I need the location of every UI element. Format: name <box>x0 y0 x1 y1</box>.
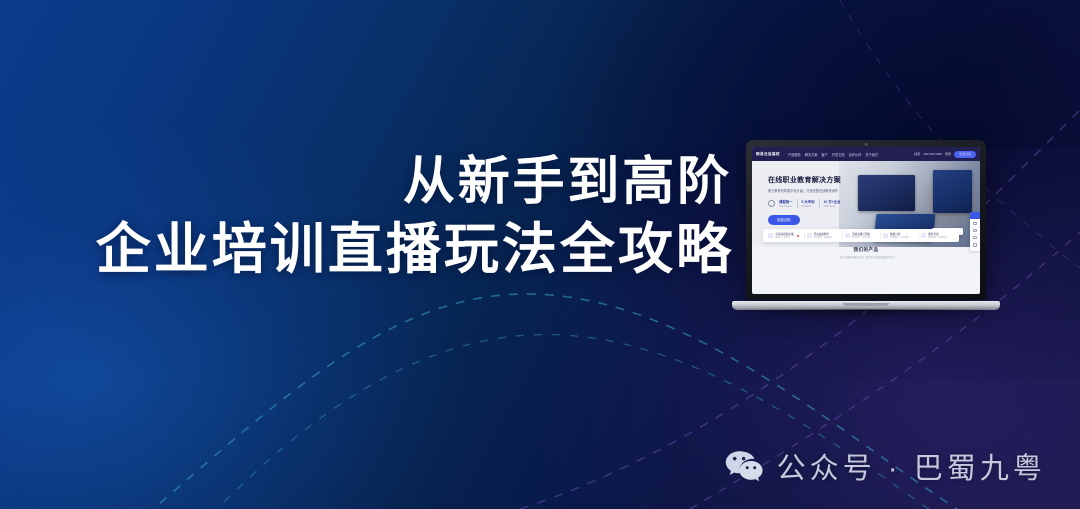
headline-line-2: 企业培训直播玩法全攻略 <box>0 217 740 282</box>
feature-card-1-title: 互动白板教学 <box>814 232 832 236</box>
nav-link-5[interactable]: 关于我们 <box>865 152 878 157</box>
hero-stat-0: 课程唯一 One Course <box>779 199 798 208</box>
hero-stats: 课程唯一 One Course 5 大专利 5 Patents 10 万+企业 … <box>768 199 882 208</box>
nav-link-1[interactable]: 解决方案 <box>805 152 818 157</box>
hero-stat-1: 5 大专利 5 Patents <box>802 199 820 208</box>
headline-block: 从新手到高阶 企业培训直播玩法全攻略 <box>0 152 740 282</box>
phone-icon <box>973 236 977 240</box>
feature-card-2-icon <box>845 233 850 238</box>
feature-card-3[interactable]: 数据分析 学情看板 · 行为追踪 <box>881 232 919 240</box>
hero-stat-2-caption: 100k Users <box>824 205 841 208</box>
feature-card-0-badge-icon <box>797 235 799 237</box>
arrow-up-icon <box>973 243 977 247</box>
feature-card-0-title: 高清音视频直播 <box>775 232 793 236</box>
site-logo: 网易云信高校 <box>756 152 780 157</box>
widget-item-phone[interactable] <box>970 235 980 242</box>
hero-stat-1-value: 5 大专利 <box>802 199 815 204</box>
feature-card-4-caption: 智能组卷 · 自动阅卷 <box>928 236 946 239</box>
feature-card-1[interactable]: 互动白板教学 实时批注 · 多端同步 <box>805 232 843 240</box>
feature-card-4-title: 题库考试 <box>928 232 946 236</box>
nav-search-label[interactable]: 搜索 <box>914 152 920 156</box>
hero-subtitle: 助力教育机构数字化升级，打造完整在线教育闭环 <box>768 188 882 193</box>
widget-item-top[interactable] <box>970 242 980 249</box>
feature-card-3-caption: 学情看板 · 行为追踪 <box>890 236 908 239</box>
feature-card-2[interactable]: 云端录播与回放 自动转码 · 永久存储 <box>843 232 881 240</box>
products-subheading: 一站式在线教育解决方案，助力企业快速搭建培训平台 <box>752 255 980 259</box>
feature-card-1-icon <box>807 233 812 238</box>
stats-ring-icon <box>768 200 775 207</box>
laptop-screen: 网易云信高校 产品服务 解决方案 客户 开发文档 合作伙伴 关于我们 搜索 40… <box>752 147 980 294</box>
webcam-icon <box>865 143 868 146</box>
floating-contact-widget[interactable] <box>970 212 980 251</box>
hero-stat-1-caption: 5 Patents <box>802 205 815 208</box>
nav-link-0[interactable]: 产品服务 <box>788 152 801 157</box>
hero-copy: 在线职业教育解决方案 助力教育机构数字化升级，打造完整在线教育闭环 课程唯一 O… <box>768 175 882 227</box>
headline-line-1: 从新手到高阶 <box>0 152 740 213</box>
feature-card-3-title: 数据分析 <box>890 232 908 236</box>
laptop-mockup: 网易云信高校 产品服务 解决方案 客户 开发文档 合作伙伴 关于我们 搜索 40… <box>732 140 1000 318</box>
products-heading: 我们的产品 <box>752 247 980 253</box>
laptop-base-notch <box>843 303 889 306</box>
feature-card-0-icon <box>768 233 773 238</box>
site-nav-right: 搜索 400-000-0000 登录 免费试用 <box>914 151 976 158</box>
message-icon <box>973 229 977 233</box>
watermark-text: 公众号 · 巴蜀九粤 <box>777 445 1046 487</box>
feature-card-3-icon <box>883 233 888 238</box>
feature-card-2-caption: 自动转码 · 永久存储 <box>852 236 870 239</box>
site-nav-links: 产品服务 解决方案 客户 开发文档 合作伙伴 关于我们 <box>788 152 878 157</box>
nav-link-3[interactable]: 开发文档 <box>832 152 845 157</box>
laptop-shadow <box>738 309 994 316</box>
feature-card-0[interactable]: 高清音视频直播 低延迟 · 高并发 <box>766 232 804 240</box>
feature-card-4[interactable]: 题库考试 智能组卷 · 自动阅卷 <box>919 232 956 240</box>
wechat-icon <box>724 449 764 483</box>
nav-login-label[interactable]: 登录 <box>945 152 951 156</box>
feature-card-0-caption: 低延迟 · 高并发 <box>775 236 793 239</box>
products-section: 我们的产品 一站式在线教育解决方案，助力企业快速搭建培训平台 <box>752 247 980 259</box>
nav-link-2[interactable]: 客户 <box>821 152 827 157</box>
hero-cta-button[interactable]: 免费试用 <box>768 215 800 225</box>
laptop-lid: 网易云信高校 产品服务 解决方案 客户 开发文档 合作伙伴 关于我们 搜索 40… <box>746 140 986 300</box>
feature-card-strip: 高清音视频直播 低延迟 · 高并发 互动白板教学 实时批注 · 多端同步 <box>763 229 959 242</box>
hero-stat-0-caption: One Course <box>779 205 793 208</box>
nav-link-4[interactable]: 合作伙伴 <box>849 152 862 157</box>
site-navbar: 网易云信高校 产品服务 解决方案 客户 开发文档 合作伙伴 关于我们 搜索 40… <box>752 147 980 161</box>
hero-title: 在线职业教育解决方案 <box>768 175 882 185</box>
feature-card-4-icon <box>921 233 926 238</box>
widget-item-support[interactable] <box>970 221 980 228</box>
nav-cta-button[interactable]: 免费试用 <box>954 151 976 158</box>
widget-avatar <box>970 212 980 219</box>
feature-card-1-caption: 实时批注 · 多端同步 <box>814 236 832 239</box>
hero-stat-2-value: 10 万+企业 <box>824 199 841 204</box>
hero-stat-2: 10 万+企业 100k Users <box>824 199 845 208</box>
hero-stat-0-value: 课程唯一 <box>779 199 793 204</box>
watermark: 公众号 · 巴蜀九粤 <box>724 445 1046 487</box>
widget-item-message[interactable] <box>970 228 980 235</box>
feature-card-2-title: 云端录播与回放 <box>852 232 870 236</box>
nav-phone: 400-000-0000 <box>923 152 942 156</box>
support-icon <box>973 222 977 226</box>
poster-canvas: 从新手到高阶 企业培训直播玩法全攻略 网易云信高校 产品服务 解决方案 客户 开… <box>0 0 1080 509</box>
